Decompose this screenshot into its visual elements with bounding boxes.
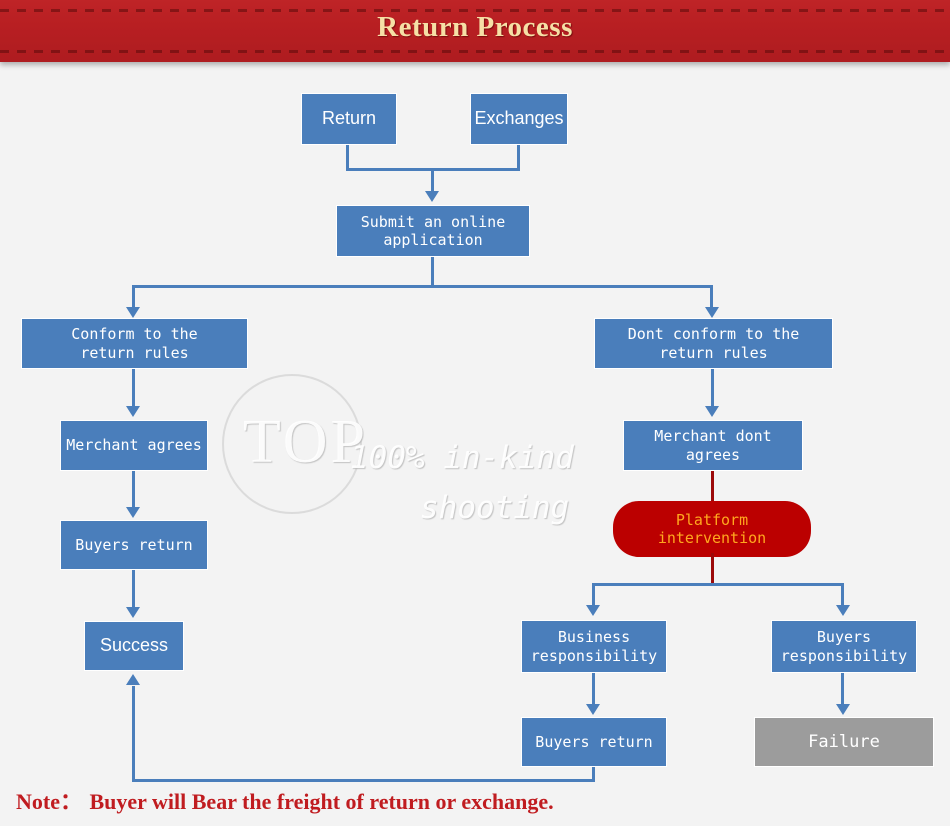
node-buyers-responsibility[interactable]: Buyers responsibility: [771, 620, 917, 673]
footer-note-label: Note：: [16, 789, 82, 814]
arrow-into-not-conform: [705, 307, 719, 318]
node-exchanges[interactable]: Exchanges: [470, 93, 568, 145]
connector-merge-to-submit: [431, 168, 434, 193]
node-failure[interactable]: Failure: [754, 717, 934, 767]
connector-platform-split-bar: [592, 583, 844, 586]
connector-buyers-return-left-down: [132, 570, 135, 609]
connector-merchant-to-platform: [711, 471, 714, 505]
arrow-into-merchant-agrees: [126, 406, 140, 417]
arrow-into-success: [126, 607, 140, 618]
footer-note: Note： Buyer will Bear the freight of ret…: [16, 784, 554, 816]
arrow-into-buyers-responsibility: [836, 605, 850, 616]
connector-business-resp-down: [592, 673, 595, 706]
connector-split-left-down: [132, 285, 135, 309]
node-buyers-return-left[interactable]: Buyers return: [60, 520, 208, 570]
connector-submit-down: [431, 257, 434, 288]
connector-merchant-agrees-down: [132, 471, 135, 509]
node-merchant-dont-agrees[interactable]: Merchant dont agrees: [623, 420, 803, 471]
watermark-line-2: shooting: [420, 490, 569, 526]
node-merchant-agrees[interactable]: Merchant agrees: [60, 420, 208, 471]
node-submit-application[interactable]: Submit an online application: [336, 205, 530, 257]
watermark-line-1: 100% in-kind: [350, 440, 574, 476]
arrow-into-buyers-return-bottom: [586, 704, 600, 715]
node-business-responsibility[interactable]: Business responsibility: [521, 620, 667, 673]
node-success[interactable]: Success: [84, 621, 184, 671]
connector-platform-split-left-down: [592, 583, 595, 607]
flowchart-page: Return Process TOP 100% in-kind shooting…: [0, 0, 950, 826]
node-return[interactable]: Return: [301, 93, 397, 145]
arrow-into-buyers-return-left: [126, 507, 140, 518]
arrow-into-submit: [425, 191, 439, 202]
arrow-into-merchant-dont-agrees: [705, 406, 719, 417]
arrow-into-business-responsibility: [586, 605, 600, 616]
connector-split-bar: [132, 285, 713, 288]
arrow-into-success-from-feedback: [126, 674, 140, 685]
connector-split-right-down: [710, 285, 713, 309]
arrow-into-failure: [836, 704, 850, 715]
page-title: Return Process: [0, 11, 950, 44]
watermark-logo-text: TOP: [243, 407, 368, 478]
connector-not-conform-down: [711, 369, 714, 408]
node-buyers-return-bottom[interactable]: Buyers return: [521, 717, 667, 767]
node-conform-rules[interactable]: Conform to the return rules: [21, 318, 248, 369]
connector-buyers-resp-down: [841, 673, 844, 706]
node-platform-intervention[interactable]: Platform intervention: [613, 501, 811, 557]
connector-conform-down: [132, 369, 135, 408]
connector-platform-down: [711, 553, 714, 585]
connector-platform-split-right-down: [841, 583, 844, 607]
connector-feedback-up: [132, 686, 135, 782]
node-not-conform-rules[interactable]: Dont conform to the return rules: [594, 318, 833, 369]
watermark-circle: [222, 374, 362, 514]
arrow-into-conform: [126, 307, 140, 318]
connector-feedback-left: [132, 779, 595, 782]
footer-note-text: Buyer will Bear the freight of return or…: [89, 789, 553, 814]
